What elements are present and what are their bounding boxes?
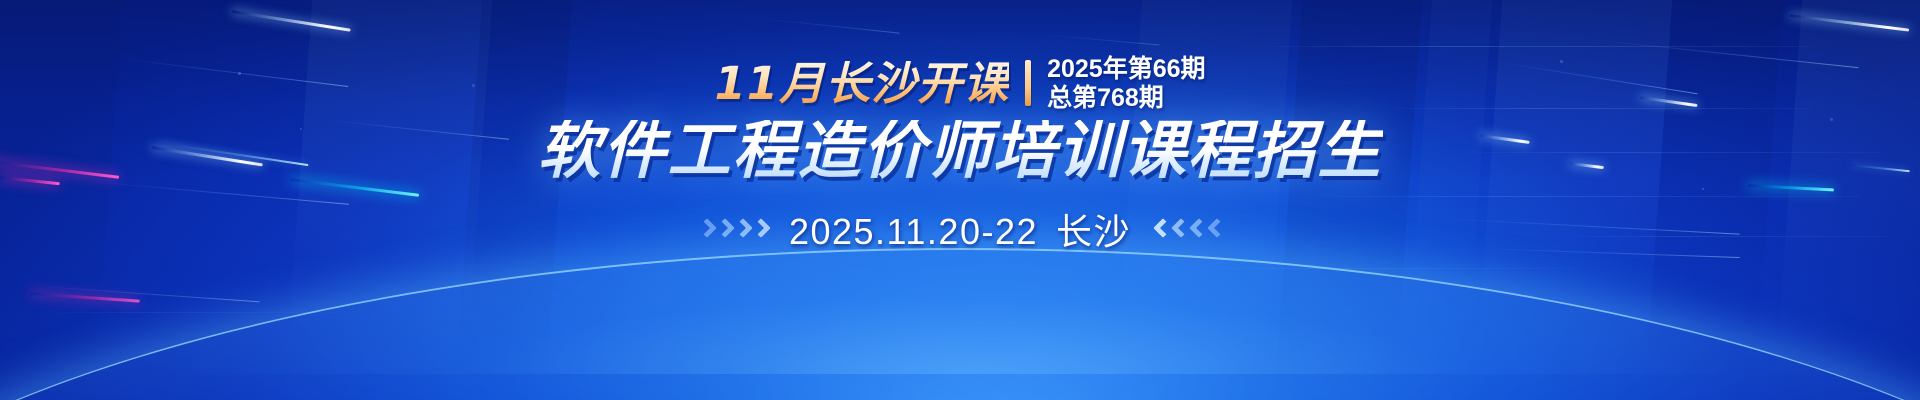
kicker-row: 11月长沙开课 2025年第66期 总第768期 xyxy=(714,54,1205,112)
vertical-bar-icon xyxy=(1025,60,1031,106)
issue-line-2: 总第768期 xyxy=(1047,84,1205,112)
banner-content: 11月长沙开课 2025年第66期 总第768期 软件工程造价师培训课程招生 2… xyxy=(0,0,1920,400)
course-banner: 11月长沙开课 2025年第66期 总第768期 软件工程造价师培训课程招生 2… xyxy=(0,0,1920,400)
date-row: 2025.11.20-22长沙 xyxy=(698,203,1222,255)
event-date: 2025.11.20-22 xyxy=(789,211,1038,252)
chevron-left-group-icon xyxy=(1153,218,1222,240)
event-date-location: 2025.11.20-22长沙 xyxy=(789,203,1131,255)
issue-info: 2025年第66期 总第768期 xyxy=(1047,55,1205,112)
issue-line-1: 2025年第66期 xyxy=(1047,55,1205,83)
banner-headline: 软件工程造价师培训课程招生 xyxy=(538,120,1383,183)
kicker-main-text: 11月长沙开课 xyxy=(714,61,1009,106)
chevron-right-group-icon xyxy=(698,218,767,240)
event-city: 长沙 xyxy=(1056,211,1131,252)
